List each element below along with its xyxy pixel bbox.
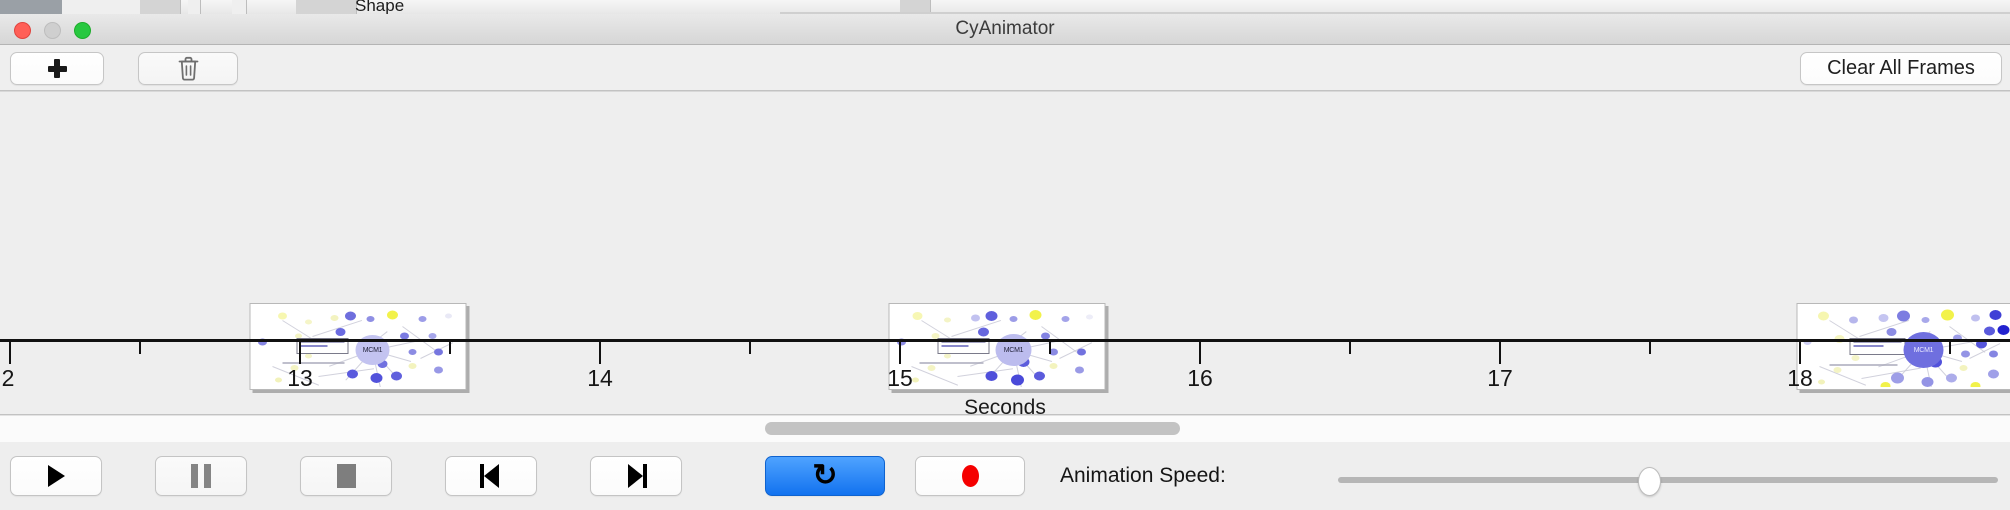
ruler-tick-minor xyxy=(749,342,751,354)
timeline-ruler: 2 13 14 15 16 17 18 Seconds xyxy=(0,339,2010,414)
ruler-axis-title: Seconds xyxy=(0,396,2010,415)
plus-icon xyxy=(48,59,67,78)
clear-all-frames-label: Clear All Frames xyxy=(1827,57,1975,80)
loop-icon: ↻ xyxy=(812,461,837,491)
ruler-tick-minor xyxy=(449,342,451,354)
delete-frame-button[interactable] xyxy=(138,52,238,85)
ruler-tick-minor xyxy=(139,342,141,354)
background-window: Shape xyxy=(0,0,2010,15)
ruler-tick-major xyxy=(1199,342,1201,364)
slider-thumb[interactable] xyxy=(1638,467,1661,496)
titlebar: CyAnimator xyxy=(0,14,2010,45)
ruler-tick-label: 14 xyxy=(587,365,613,392)
ruler-tick-minor xyxy=(1949,342,1951,354)
background-chip xyxy=(0,0,63,14)
background-chip xyxy=(62,0,141,14)
animation-speed-slider[interactable] xyxy=(1338,469,1998,491)
ruler-tick-label: 17 xyxy=(1487,365,1513,392)
background-chip xyxy=(140,0,181,14)
pause-button[interactable] xyxy=(155,456,247,496)
ruler-tick-major xyxy=(599,342,601,364)
playback-bar: ↻ Animation Speed: xyxy=(0,442,2010,510)
add-frame-button[interactable] xyxy=(10,52,104,85)
scrollbar-thumb[interactable] xyxy=(765,422,1180,435)
play-button[interactable] xyxy=(10,456,102,496)
ruler-tick-major xyxy=(9,342,11,364)
ruler-tick-label: 2 xyxy=(2,365,15,392)
ruler-tick-label: 16 xyxy=(1187,365,1213,392)
play-icon xyxy=(48,465,65,487)
slider-track[interactable] xyxy=(1338,477,1998,483)
timeline-scrollbar[interactable] xyxy=(0,415,2010,443)
ruler-tick-major xyxy=(1799,342,1801,364)
ruler-tick-label: 15 xyxy=(887,365,913,392)
record-icon xyxy=(962,465,979,487)
ruler-tick-label: 13 xyxy=(287,365,313,392)
animation-speed-label: Animation Speed: xyxy=(1060,464,1226,488)
ruler-tick-major xyxy=(1499,342,1501,364)
window-title: CyAnimator xyxy=(0,14,2010,44)
ruler-tick-label: 18 xyxy=(1787,365,1813,392)
loop-button[interactable]: ↻ xyxy=(765,456,885,496)
toolbar: Clear All Frames xyxy=(0,45,2010,91)
ruler-tick-major xyxy=(299,342,301,364)
background-chip xyxy=(296,0,357,14)
background-chip xyxy=(188,0,201,14)
strip-divider xyxy=(0,91,2010,92)
cyanimator-window: Shape CyAnimator Clear All Frames xyxy=(0,0,2010,510)
ruler-tick-minor xyxy=(1049,342,1051,354)
background-chip xyxy=(232,0,247,14)
stop-icon xyxy=(337,464,356,488)
clear-all-frames-button[interactable]: Clear All Frames xyxy=(1800,52,2002,85)
ruler-tick-minor xyxy=(1349,342,1351,354)
timeline-strip[interactable]: MCM1 xyxy=(0,91,2010,415)
stop-button[interactable] xyxy=(300,456,392,496)
ruler-axis-line xyxy=(0,339,2010,342)
record-button[interactable] xyxy=(915,456,1025,496)
skip-to-end-button[interactable] xyxy=(590,456,682,496)
pause-icon xyxy=(191,464,211,488)
ruler-tick-major xyxy=(899,342,901,364)
skip-to-start-button[interactable] xyxy=(445,456,537,496)
skip-forward-icon xyxy=(625,464,647,488)
ruler-tick-minor xyxy=(1649,342,1651,354)
skip-back-icon xyxy=(480,464,502,488)
background-window-label: Shape xyxy=(355,0,404,15)
trash-icon xyxy=(178,56,199,81)
